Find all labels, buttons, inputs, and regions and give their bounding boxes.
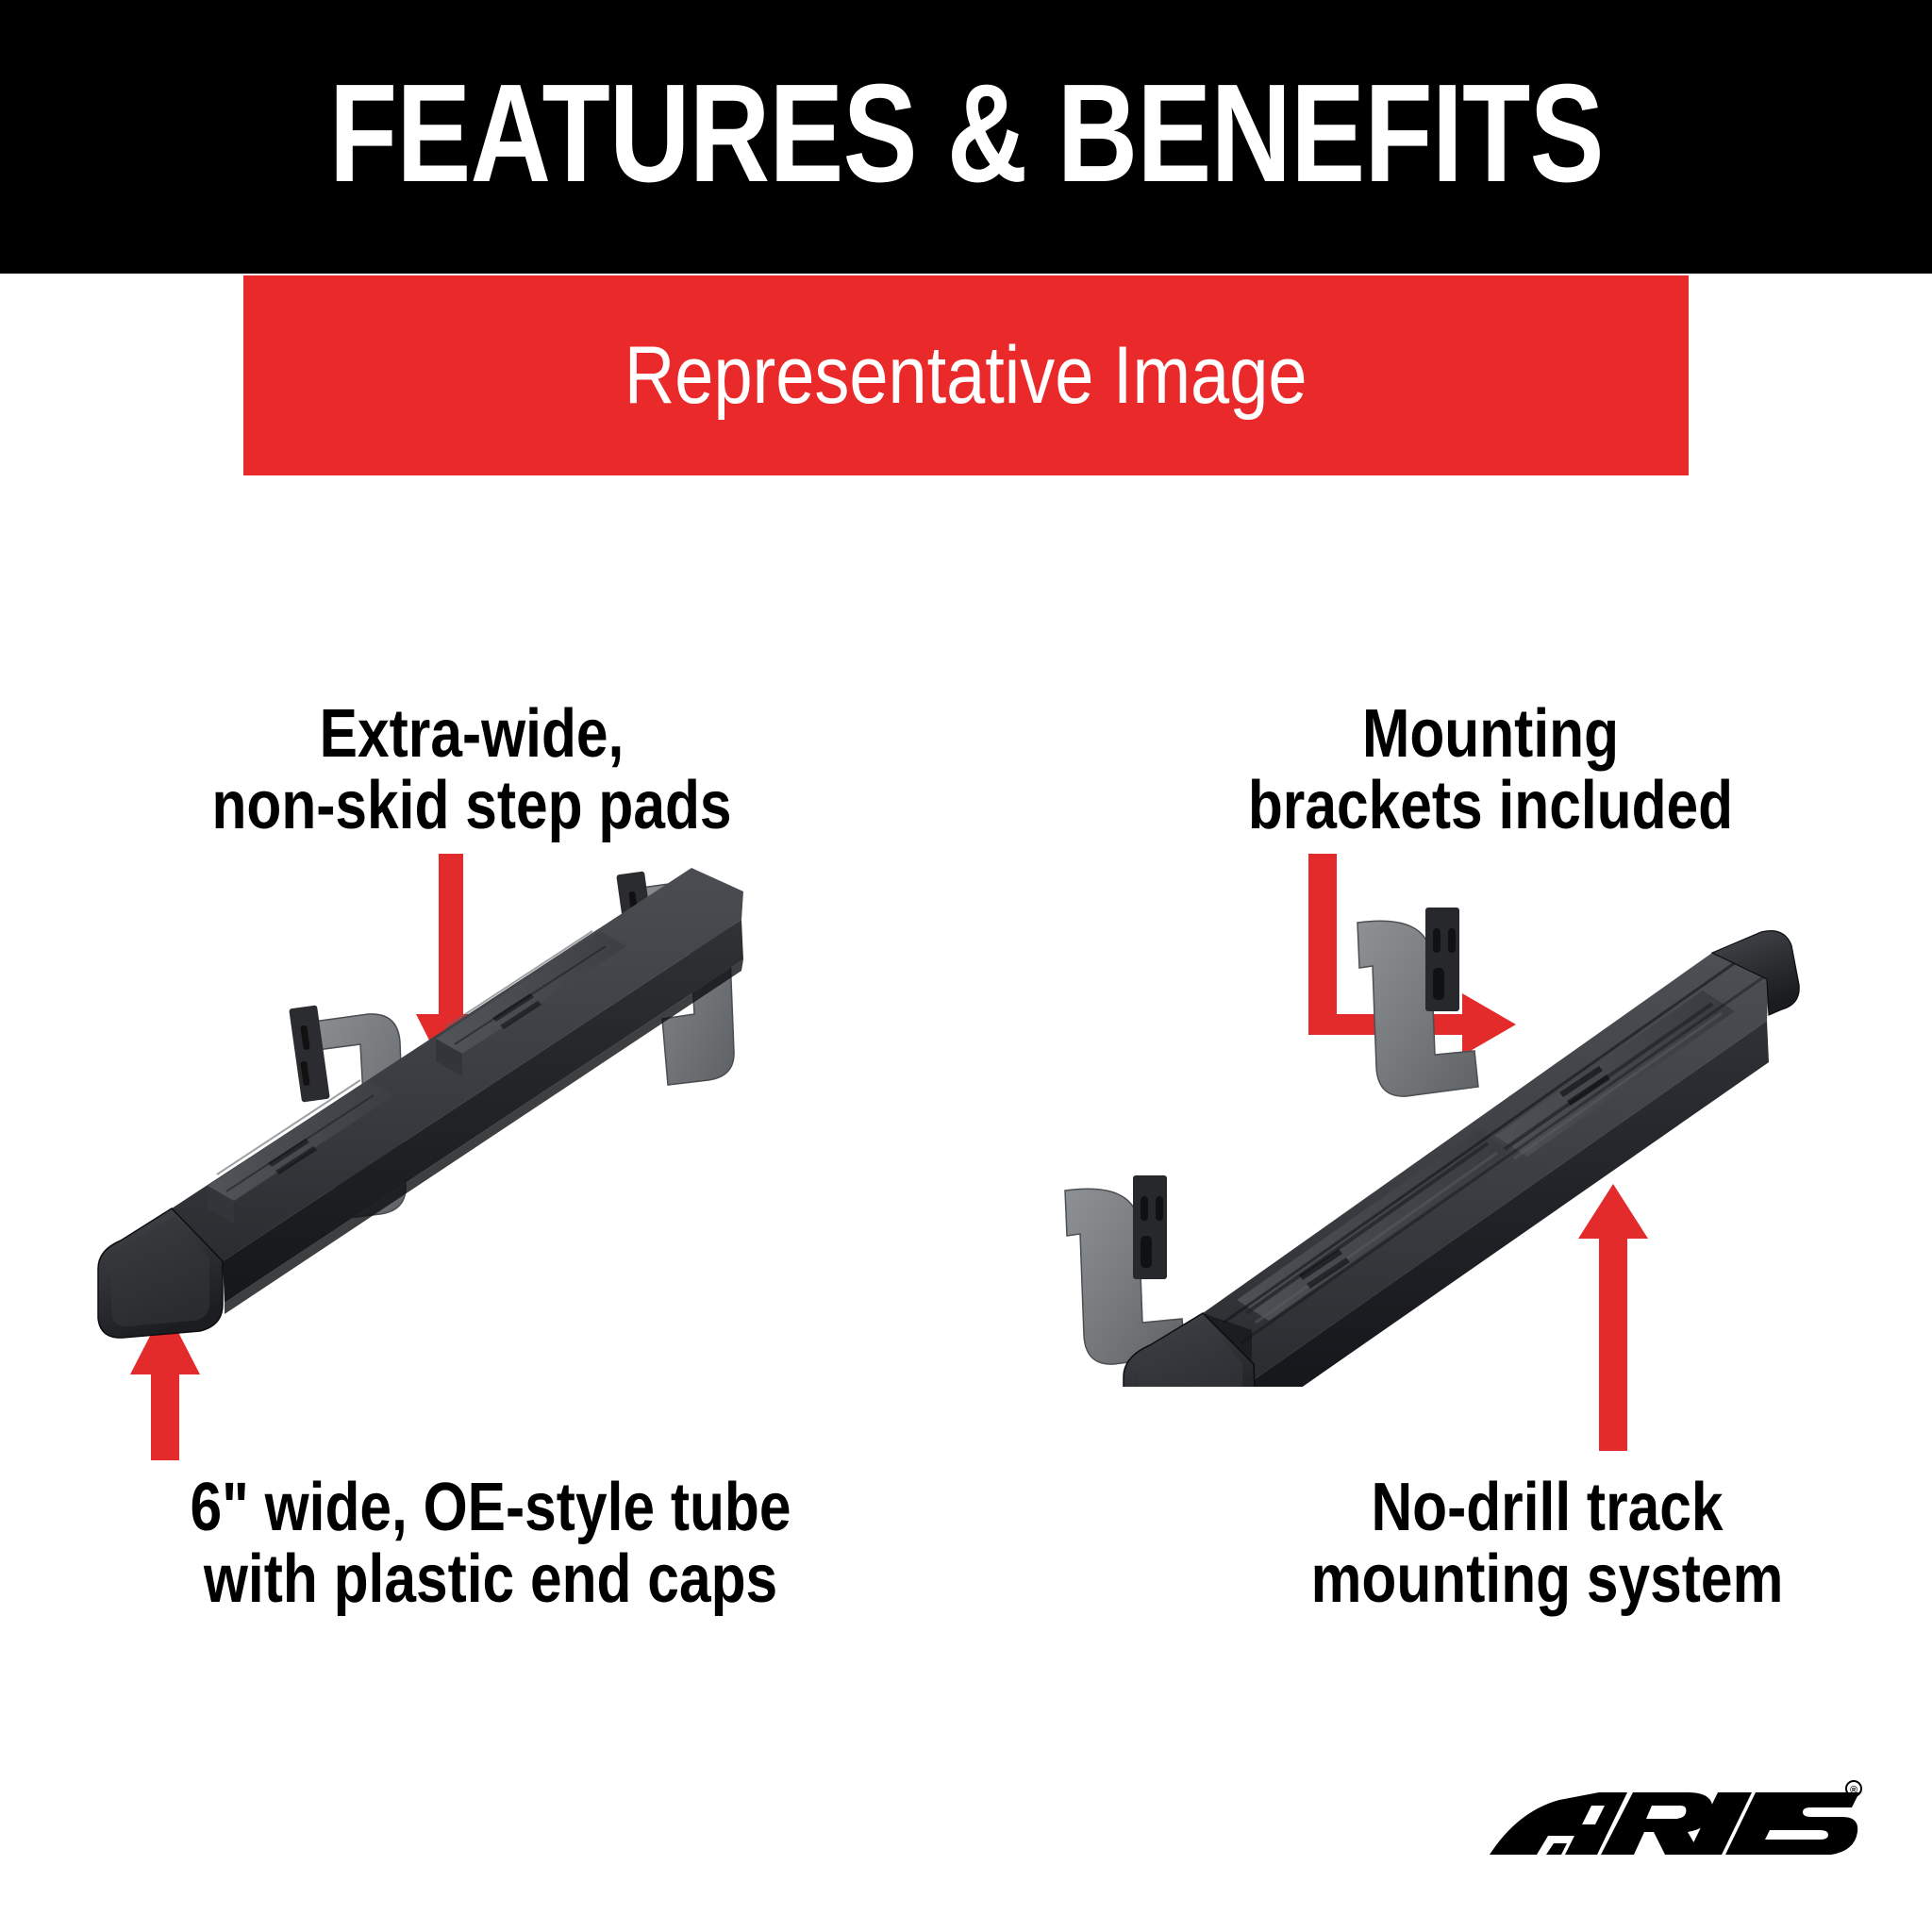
- callout-label-step-pads: Extra-wide, non-skid step pads: [123, 698, 820, 842]
- registered-mark-glyph: ®: [1850, 1785, 1857, 1796]
- representative-image-banner: Representative Image: [243, 275, 1689, 475]
- registered-trademark-icon: ®: [1846, 1781, 1861, 1796]
- header-bar: FEATURES & BENEFITS: [0, 0, 1932, 274]
- callout-label-no-drill-track: No-drill track mounting system: [1230, 1472, 1864, 1616]
- product-image-running-board-with-brackets: [66, 854, 811, 1344]
- aries-logo: ®: [1486, 1774, 1863, 1864]
- callout-label-oe-tube: 6" wide, OE-style tube with plastic end …: [110, 1472, 871, 1616]
- callout-label-mounting-brackets: Mounting brackets included: [1134, 698, 1847, 842]
- no-drill-track-surface: [1224, 951, 1763, 1343]
- product-image-running-board-track-mount: [1052, 887, 1807, 1387]
- representative-image-label: Representative Image: [625, 335, 1307, 416]
- page-title: FEATURES & BENEFITS: [329, 64, 1604, 204]
- mounting-bracket-upper: [1357, 908, 1478, 1096]
